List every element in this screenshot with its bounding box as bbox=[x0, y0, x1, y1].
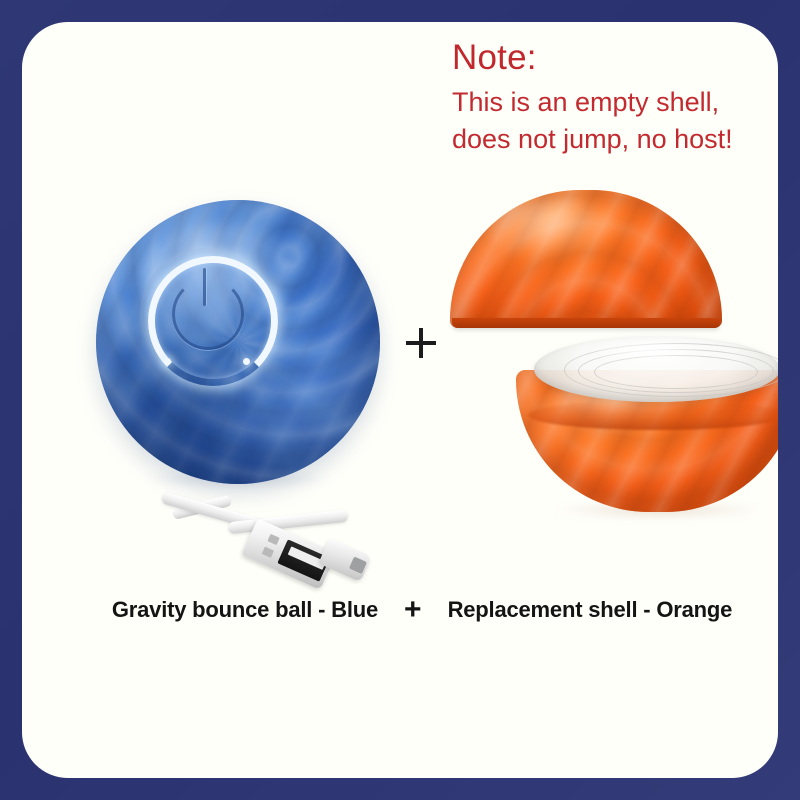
led-ring-cap-right bbox=[243, 358, 250, 365]
caption-row: Gravity bounce ball - Blue + Replacement… bbox=[44, 588, 778, 632]
gravity-bounce-ball bbox=[96, 200, 380, 484]
note-line-1: This is an empty shell, bbox=[452, 89, 778, 116]
ball-body bbox=[96, 200, 380, 484]
replacement-shell-top-dome bbox=[450, 190, 722, 328]
plus-vertical-bar bbox=[419, 328, 423, 358]
product-image-canvas: Note: This is an empty shell, does not j… bbox=[0, 0, 800, 800]
note-title: Note: bbox=[452, 40, 778, 75]
white-content-panel: Note: This is an empty shell, does not j… bbox=[22, 22, 778, 778]
replacement-shell-bottom-bowl bbox=[516, 336, 778, 512]
led-ring-cap-left bbox=[164, 358, 171, 365]
caption-right-label: Replacement shell - Orange bbox=[448, 597, 733, 623]
note-line-2: does not jump, no host! bbox=[452, 126, 778, 153]
dome-bottom-rim bbox=[452, 318, 720, 328]
power-icon-stem bbox=[203, 268, 206, 306]
power-icon[interactable] bbox=[172, 278, 244, 350]
translucent-liner bbox=[534, 336, 778, 402]
cable-cord-lower bbox=[228, 510, 349, 534]
usb-a-latch-hole-top bbox=[267, 534, 279, 545]
usb-charging-cable bbox=[154, 494, 380, 590]
liner-highlight bbox=[586, 342, 706, 362]
dome-body bbox=[450, 190, 722, 328]
dome-highlight bbox=[488, 198, 619, 261]
caption-left-label: Gravity bounce ball - Blue bbox=[112, 597, 378, 623]
bowl-inner-lip bbox=[528, 400, 778, 430]
note-block: Note: This is an empty shell, does not j… bbox=[452, 40, 778, 163]
middle-plus-icon bbox=[406, 328, 436, 358]
usb-a-latch-hole-bottom bbox=[262, 547, 274, 558]
caption-plus-icon: + bbox=[404, 595, 422, 625]
micro-usb-tip bbox=[349, 556, 367, 574]
